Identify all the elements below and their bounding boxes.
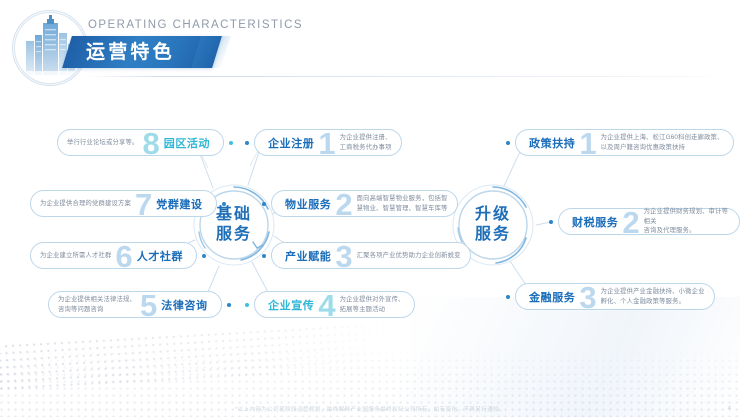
node-dot-icon [227, 303, 231, 307]
node-basic-2[interactable]: 物业服务 2 面向高端智慧物业服务，包括智 慧物业、智慧管理、智慧车库等 [262, 190, 458, 217]
node-dot-icon [262, 202, 266, 206]
node-basic-1-label: 企业注册 [268, 135, 314, 151]
node-basic-5[interactable]: 为企业提供相关法律法规、 咨询等问题咨询 5 法律咨询 [48, 291, 231, 318]
node-basic-7-pill[interactable]: 为企业提供合理的党群建设方案 7 党群建设 [30, 190, 217, 217]
node-basic-3-pill[interactable]: 产业赋能 3 汇聚各项产业优势助力企业创新蜕变 [271, 242, 471, 269]
node-basic-2-pill[interactable]: 物业服务 2 面向高端智慧物业服务，包括智 慧物业、智慧管理、智慧车库等 [271, 190, 458, 217]
node-upgrade-2-number: 2 [622, 207, 639, 238]
node-basic-4-desc: 为企业提供对外宣传、 拓展等主题活动 [340, 295, 405, 314]
node-basic-4[interactable]: 企业宣传 4 为企业提供对外宣传、 拓展等主题活动 [245, 291, 415, 318]
node-basic-8-desc: 举行行业论坛或分享等。 [67, 138, 138, 148]
node-basic-1-desc: 为企业提供注册、 工商税务代办事项 [340, 133, 392, 152]
node-basic-7-desc: 为企业提供合理的党群建设方案 [40, 199, 131, 209]
node-basic-1[interactable]: 企业注册 1 为企业提供注册、 工商税务代办事项 [245, 129, 402, 156]
node-upgrade-1-number: 1 [579, 128, 596, 159]
node-basic-5-pill[interactable]: 为企业提供相关法律法规、 咨询等问题咨询 5 法律咨询 [48, 291, 222, 318]
hub-upgrade-line1: 升级 [475, 205, 511, 225]
node-basic-5-desc: 为企业提供相关法律法规、 咨询等问题咨询 [58, 295, 136, 314]
node-basic-3-label: 产业赋能 [285, 248, 331, 264]
node-dot-icon [262, 254, 266, 258]
node-upgrade-1-label: 政策扶持 [529, 135, 575, 151]
node-basic-1-pill[interactable]: 企业注册 1 为企业提供注册、 工商税务代办事项 [254, 129, 402, 156]
hub-basic-line2: 服务 [216, 225, 252, 245]
node-basic-6-number: 6 [115, 241, 132, 272]
node-basic-3-number: 3 [335, 241, 352, 272]
node-upgrade-2[interactable]: 财税服务 2 为企业提供财务规划、审计等相关 咨询及代理服务。 [549, 208, 740, 235]
node-dot-icon [222, 202, 226, 206]
node-basic-8-pill[interactable]: 举行行业论坛或分享等。 8 园区活动 [57, 129, 224, 156]
node-basic-8-label: 园区活动 [164, 135, 210, 151]
header-divider [86, 76, 726, 77]
node-basic-2-number: 2 [335, 189, 352, 220]
node-dot-icon [245, 303, 249, 307]
node-upgrade-3-desc: 为企业提供产业金融扶持、小微企业 孵化、个人金融政策等服务。 [601, 287, 705, 306]
node-basic-3[interactable]: 产业赋能 3 汇聚各项产业优势助力企业创新蜕变 [262, 242, 471, 269]
node-basic-4-pill[interactable]: 企业宣传 4 为企业提供对外宣传、 拓展等主题活动 [254, 291, 415, 318]
node-basic-7-number: 7 [135, 189, 152, 220]
node-basic-4-number: 4 [318, 290, 335, 321]
background-sheen [410, 297, 740, 417]
node-dot-icon [506, 295, 510, 299]
node-upgrade-1-pill[interactable]: 政策扶持 1 为企业提供上海、松江G60科创走廊政策、 以及周户籍咨询优惠政策扶… [515, 129, 734, 156]
node-basic-6-label: 人才社群 [137, 248, 183, 264]
node-upgrade-3-label: 金融服务 [529, 289, 575, 305]
node-basic-3-desc: 汇聚各项产业优势助力企业创新蜕变 [357, 251, 461, 261]
node-upgrade-1-desc: 为企业提供上海、松江G60科创走廊政策、 以及周户籍咨询优惠政策扶持 [601, 133, 724, 152]
node-upgrade-3-pill[interactable]: 金融服务 3 为企业提供产业金融扶持、小微企业 孵化、个人金融政策等服务。 [515, 283, 715, 310]
page-number: 4 [728, 406, 731, 412]
node-basic-7-label: 党群建设 [156, 196, 202, 212]
node-basic-5-label: 法律咨询 [161, 297, 207, 313]
node-dot-icon [202, 254, 206, 258]
node-basic-2-desc: 面向高端智慧物业服务，包括智 慧物业、智慧管理、智慧车库等 [357, 194, 448, 213]
node-basic-6-desc: 为企业建立所需人才社群 [40, 251, 111, 261]
hub-upgrade-line2: 服务 [475, 225, 511, 245]
node-basic-2-label: 物业服务 [285, 196, 331, 212]
page-title: 运营特色 [86, 41, 226, 64]
node-basic-6[interactable]: 为企业建立所需人才社群 6 人才社群 [30, 242, 206, 269]
node-basic-6-pill[interactable]: 为企业建立所需人才社群 6 人才社群 [30, 242, 197, 269]
node-dot-icon [245, 141, 249, 145]
header-english-title: OPERATING CHARACTERISTICS [88, 19, 303, 31]
node-basic-5-number: 5 [140, 290, 157, 321]
node-upgrade-3[interactable]: 金融服务 3 为企业提供产业金融扶持、小微企业 孵化、个人金融政策等服务。 [506, 283, 715, 310]
node-dot-icon [506, 141, 510, 145]
node-upgrade-2-pill[interactable]: 财税服务 2 为企业提供财务规划、审计等相关 咨询及代理服务。 [558, 208, 740, 235]
slide-canvas: OPERATING CHARACTERISTICS 运营特色 [0, 0, 740, 417]
node-upgrade-2-desc: 为企业提供财务规划、审计等相关 咨询及代理服务。 [644, 207, 730, 236]
node-basic-7[interactable]: 为企业提供合理的党群建设方案 7 党群建设 [30, 190, 226, 217]
node-basic-8-number: 8 [142, 128, 159, 159]
node-dot-icon [229, 141, 233, 145]
node-basic-4-label: 企业宣传 [268, 297, 314, 313]
node-basic-8[interactable]: 举行行业论坛或分享等。 8 园区活动 [57, 129, 233, 156]
halftone-dot-wave-secondary [0, 319, 469, 391]
node-upgrade-1[interactable]: 政策扶持 1 为企业提供上海、松江G60科创走廊政策、 以及周户籍咨询优惠政策扶… [506, 129, 734, 156]
node-upgrade-3-number: 3 [579, 282, 596, 313]
node-basic-1-number: 1 [318, 128, 335, 159]
footer-note: *以上内容为公司现阶段运营规划，最终解释产业园服务最终权归公司所有，如有变化，不… [0, 405, 740, 413]
node-dot-icon [549, 220, 553, 224]
node-upgrade-2-label: 财税服务 [572, 214, 618, 230]
